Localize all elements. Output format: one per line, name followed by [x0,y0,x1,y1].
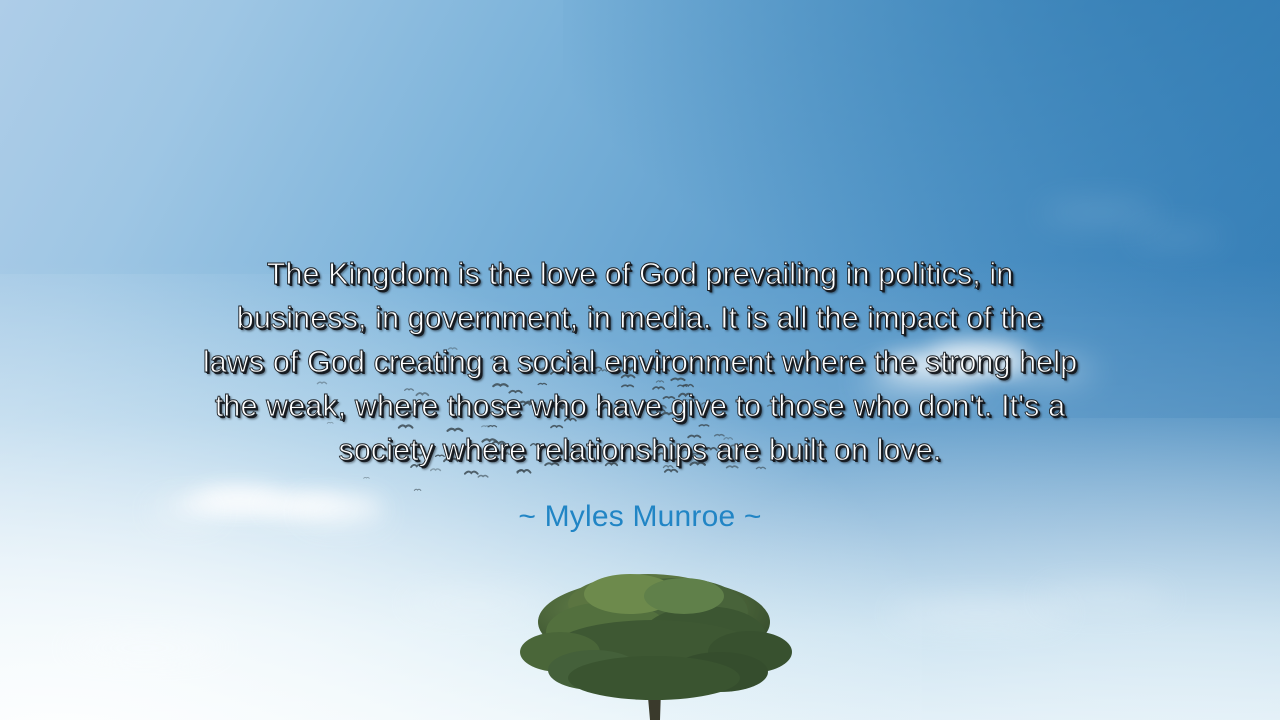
quote-card: The Kingdom is the love of God prevailin… [0,0,1280,720]
quote-text-block: The Kingdom is the love of God prevailin… [0,252,1280,472]
quote-line-4: the weak, where those who have give to t… [0,384,1280,428]
quote-line-1: The Kingdom is the love of God prevailin… [0,252,1280,296]
quote-attribution: ~ Myles Munroe ~ [0,497,1280,537]
quote-line-3: laws of God creating a social environmen… [0,340,1280,384]
quote-line-2: business, in government, in media. It is… [0,296,1280,340]
quote-line-5: society where relationships are built on… [0,428,1280,472]
